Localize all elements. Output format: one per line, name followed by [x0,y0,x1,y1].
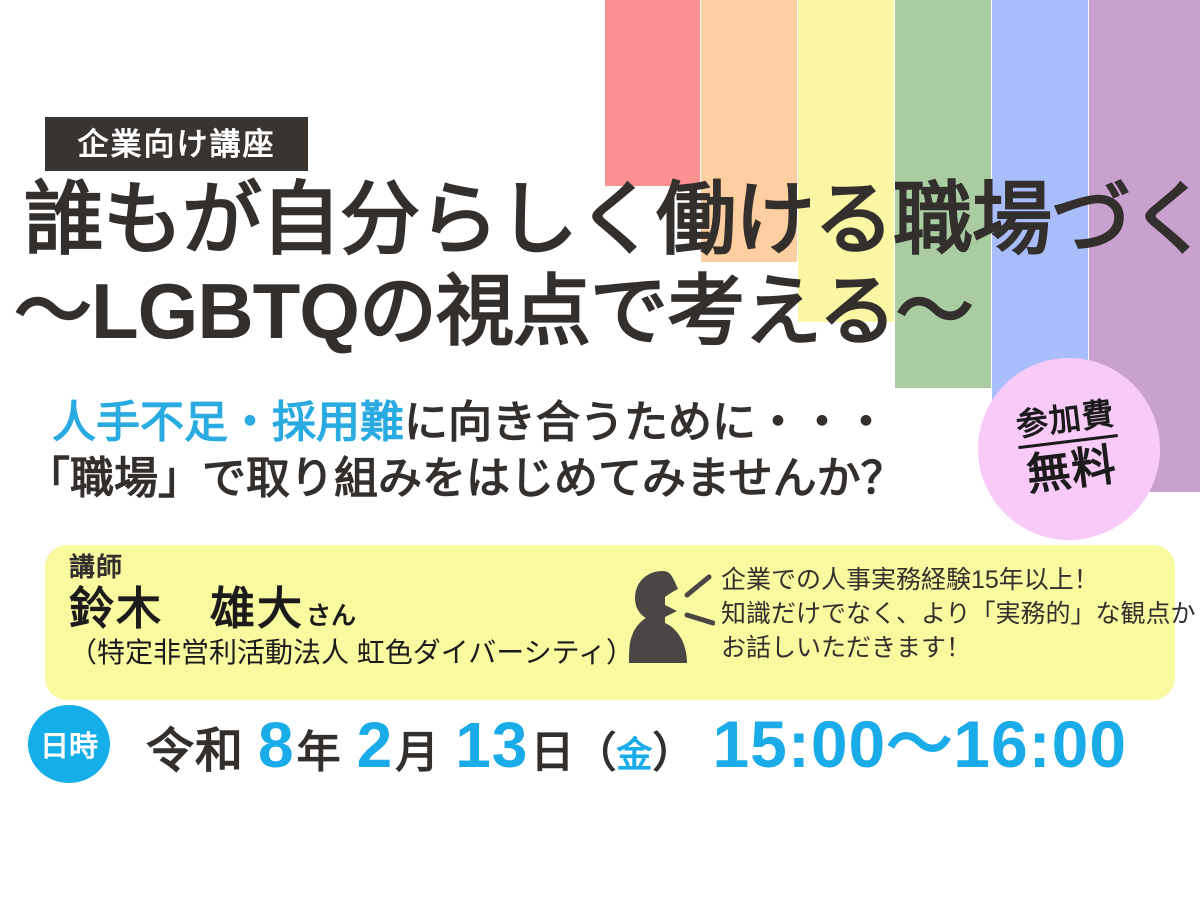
schedule-pill-label: 日時 [40,723,98,765]
subtitle-rest: に向き合うために・・・ [404,398,888,447]
title-line-1: 誰もが自分らしく働ける職場づくり [0,180,1200,260]
page-title: 誰もが自分らしく働ける職場づくり 〜LGBTQの視点で考える〜 [0,180,1200,350]
schedule-year-unit: 年 [297,731,341,775]
schedule-time: 15:00〜16:00 [712,711,1127,777]
category-badge-label: 企業向け講座 [78,129,276,160]
schedule-paren-open: （ [574,732,616,774]
category-badge: 企業向け講座 [45,117,308,171]
lecturer-note-3: お話しいただきます！ [721,631,1200,665]
lecturer-note-1: 企業での人事実務経験15年以上！ [721,563,1200,597]
schedule-month: 2 [357,713,394,777]
lecturer-note-2: 知識だけでなく、より「実務的」な観点から [721,597,1200,631]
lecturer-label: 講師 [69,553,629,582]
stripe-red [605,0,700,186]
schedule-paren-close: ） [652,732,694,774]
fee-badge-value: 無料 [1024,441,1119,500]
schedule-day-unit: 日 [530,731,574,775]
lecturer-honorific: さん [306,596,356,632]
schedule-day: 13 [455,713,528,777]
lecturer-name: 鈴木 雄大 [69,584,304,634]
lecturer-name-row: 鈴木 雄大 さん [69,584,629,634]
title-line-2: 〜LGBTQの視点で考える〜 [0,272,1200,350]
schedule-month-unit: 月 [395,731,439,775]
lecturer-panel: 講師 鈴木 雄大 さん （特定非営利活動法人 虹色ダイバーシティ） 企業での人事… [45,545,1175,700]
schedule-era: 令和 [146,728,244,776]
speaking-person-icon [629,567,715,671]
subtitle-highlight: 人手不足・採用難 [52,398,404,447]
lecturer-notes: 企業での人事実務経験15年以上！ 知識だけでなく、より「実務的」な観点から お話… [721,545,1200,665]
schedule-text: 令和 8 年 2 月 13 日 （ 金 ） 15:00〜16:00 [146,711,1127,777]
lecturer-organization: （特定非営利活動法人 虹色ダイバーシティ） [69,636,629,670]
schedule-row: 日時 令和 8 年 2 月 13 日 （ 金 ） 15:00〜16:00 [0,705,1200,783]
poster-canvas: 企業向け講座 誰もが自分らしく働ける職場づくり 〜LGBTQの視点で考える〜 人… [0,0,1200,900]
schedule-year: 8 [258,713,295,777]
schedule-weekday: 金 [616,737,652,773]
lecturer-info: 講師 鈴木 雄大 さん （特定非営利活動法人 虹色ダイバーシティ） [45,545,629,670]
schedule-pill: 日時 [28,705,110,783]
